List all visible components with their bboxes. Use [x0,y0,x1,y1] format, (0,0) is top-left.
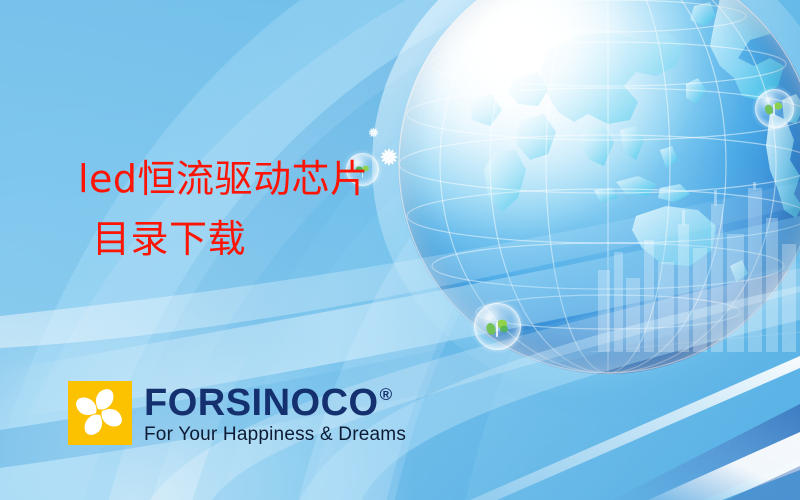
four-petal-pinwheel-icon [68,381,132,445]
logo-tagline: For Your Happiness & Dreams [144,425,406,444]
logo-wordmark: FORSINOCO ® [144,384,406,422]
eco-bubble-headline [346,153,379,186]
sprout-motif-right-icon [756,90,793,127]
sparkle-flower-small-icon [365,124,382,141]
eco-bubble-right-edge [755,89,794,128]
promo-banner: led恒流驱动芯片 目录下载 FORSINOCO ® For Your Happ… [0,0,800,500]
pinwheel-motif-icon [347,154,378,185]
registered-trademark-icon: ® [380,386,393,403]
company-logo[interactable]: FORSINOCO ® For Your Happiness & Dreams [68,381,406,445]
logo-text-block: FORSINOCO ® For Your Happiness & Dreams [144,381,406,444]
logo-wordmark-text: FORSINOCO [144,384,379,422]
eco-bubble-center [474,303,521,350]
sprout-motif-icon [475,304,520,349]
